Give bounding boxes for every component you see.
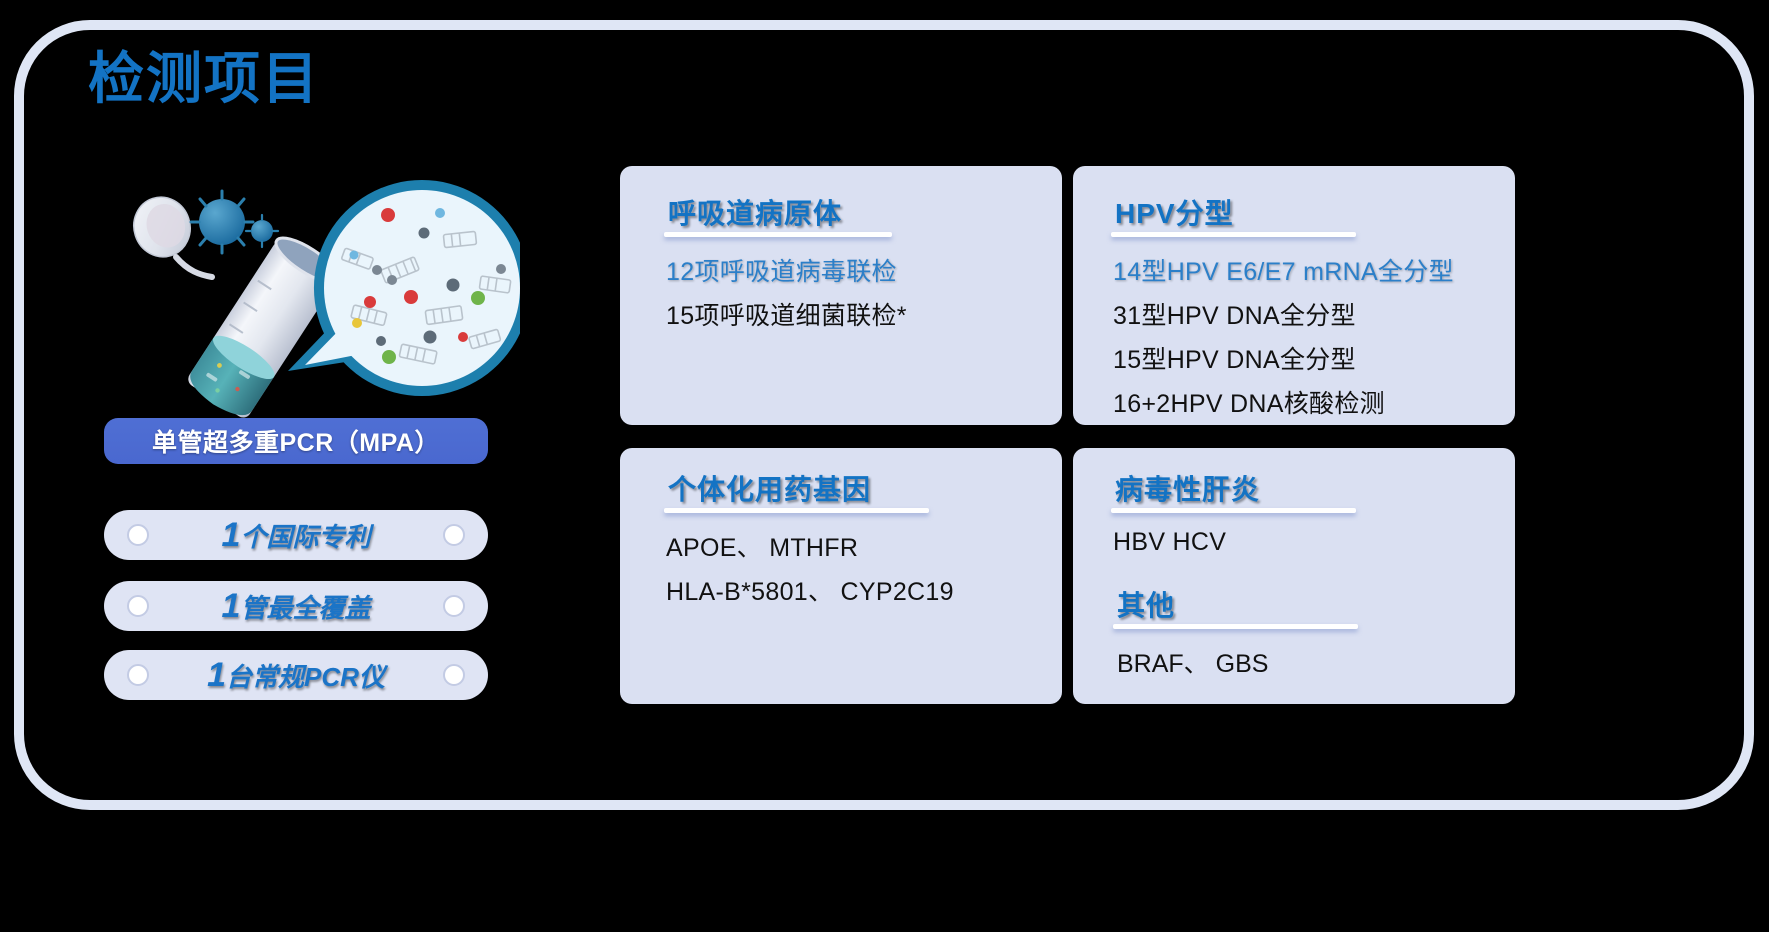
bullet-dot-icon [127,524,149,546]
title-underline [1111,232,1356,237]
page-title: 检测项目 [88,48,320,110]
slide-root: 检测项目 [0,0,1769,932]
card-subsection-item: BRAF、 GBS [1117,644,1268,680]
card-viral-hepatitis[interactable]: 病毒性肝炎 HBV HCV 其他 BRAF、 GBS [1073,448,1515,704]
feature-pill-patent[interactable]: 1个国际专利 [104,510,488,560]
card-item: 14型HPV E6/E7 mRNA全分型 [1113,252,1454,288]
card-title: 个体化用药基因 [668,468,871,508]
feature-pill-text: 台常规PCR仪 [226,662,385,692]
pcr-tube-dna-illustration [100,165,520,425]
card-item: 31型HPV DNA全分型 [1113,296,1356,332]
card-title: HPV分型 [1115,192,1234,232]
feature-pill-number: 1 [207,656,226,694]
bullet-dot-icon [443,664,465,686]
title-underline [664,232,892,237]
bullet-dot-icon [443,595,465,617]
card-respiratory-pathogens[interactable]: 呼吸道病原体 12项呼吸道病毒联检 15项呼吸道细菌联检* [620,166,1062,425]
card-hpv-genotyping[interactable]: HPV分型 14型HPV E6/E7 mRNA全分型 31型HPV DNA全分型… [1073,166,1515,425]
feature-pill-text: 个国际专利 [240,522,370,552]
bullet-dot-icon [127,664,149,686]
card-item: HBV HCV [1113,528,1226,557]
subsection-underline [1113,624,1358,629]
feature-pill-label: 1台常规PCR仪 [149,656,443,695]
feature-pill-number: 1 [222,587,241,625]
feature-pill-instrument[interactable]: 1台常规PCR仪 [104,650,488,700]
feature-pill-label: 1管最全覆盖 [149,587,443,626]
feature-pill-text: 管最全覆盖 [240,593,370,623]
title-underline [1111,508,1356,513]
bullet-dot-icon [443,524,465,546]
title-underline [664,508,929,513]
feature-pill-number: 1 [222,516,241,554]
card-item: APOE、 MTHFR [666,528,858,564]
card-title: 呼吸道病原体 [668,192,842,232]
bullet-dot-icon [127,595,149,617]
mpa-badge: 单管超多重PCR（MPA） [104,418,488,464]
feature-pill-coverage[interactable]: 1管最全覆盖 [104,581,488,631]
card-title: 病毒性肝炎 [1115,468,1260,508]
card-personalized-medication-genes[interactable]: 个体化用药基因 APOE、 MTHFR HLA-B*5801、 CYP2C19 [620,448,1062,704]
card-item: 15项呼吸道细菌联检* [666,296,907,332]
card-subsection-title: 其他 [1117,584,1175,624]
card-item: 12项呼吸道病毒联检 [666,252,897,288]
card-item: HLA-B*5801、 CYP2C19 [666,572,954,608]
card-item: 15型HPV DNA全分型 [1113,340,1356,376]
feature-pill-label: 1个国际专利 [149,516,443,555]
card-item: 16+2HPV DNA核酸检测 [1113,384,1385,420]
